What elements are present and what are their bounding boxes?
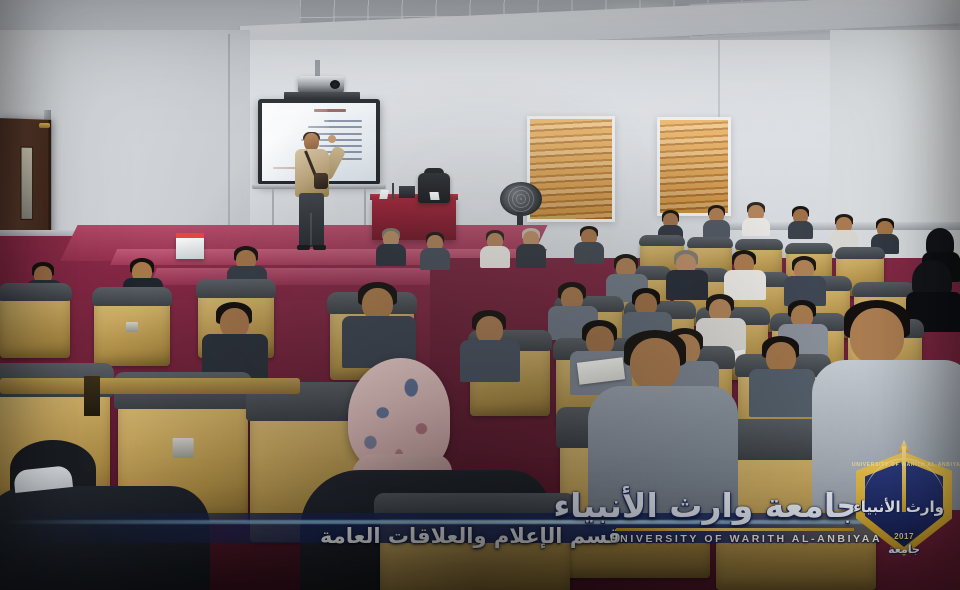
emblem-subtitle-arabic: جامعة [852,543,956,556]
stage-box [176,237,204,259]
attendee [730,250,760,288]
window-right [657,117,731,216]
auditorium-seat [0,288,70,358]
photograph-lecture-hall: قسم الإعلام والعلاقات العامة جامعة وارث … [0,0,960,590]
seat-armrest [0,378,300,394]
blinds-shading [660,120,728,213]
university-wordmark: جامعة وارث الأنبياء UNIVERSITY OF WARITH… [610,486,860,556]
attendee [356,282,402,346]
attendee [760,336,804,398]
seat-divider [84,376,100,416]
wall-mounted-fan [498,182,544,224]
fan-stem [517,212,523,225]
department-name-arabic: قسم الإعلام والعلاقات العامة [320,524,621,548]
university-name-arabic: جامعة وارث الأنبياء [610,486,860,525]
microphone-stand [392,183,394,199]
presenter-leg-split [310,213,312,245]
door-handle [39,123,50,128]
attendee [833,214,857,242]
emblem-year: 2017 [852,532,956,541]
attendee [745,202,769,230]
attendee [484,230,508,260]
wordmark-rule [616,528,854,531]
attendee [214,302,256,362]
attendee [660,210,682,234]
presenter-shoe-right [313,245,326,250]
attendee [706,205,728,231]
attendee [790,256,820,294]
attendee [790,206,812,232]
university-emblem: UNIVERSITY OF WARITH AL-ANBIYAA وارث الأ… [852,444,956,562]
presenter-hand [328,135,336,143]
auditorium-seat [94,292,170,366]
name-card-left [379,190,389,199]
attendee [470,310,510,366]
attendee [380,228,404,258]
stage-box-lid [176,233,204,238]
presenter-at-screen [292,133,340,251]
name-card-right [429,192,439,200]
attendee [520,228,544,260]
emblem-calligraphy-arabic: وارث الأنبياء [864,498,944,516]
fan-grill [505,186,537,212]
ceiling-projector [298,76,344,93]
presenter-shoe-left [297,245,310,250]
attendee [874,218,898,248]
emblem-arc-text: UNIVERSITY OF WARITH AL-ANBIYAA [852,462,956,468]
door-glass-panel [21,147,34,220]
attendee [672,250,702,288]
presenter-shoulder-bag [314,173,328,189]
laptop-on-table [399,186,415,198]
attendee [578,226,602,256]
university-name-english: UNIVERSITY OF WARITH AL-ANBIYAA [610,533,860,545]
attendee [232,246,262,282]
attendee [612,254,642,290]
attendee [424,232,448,262]
projector-lens [330,80,340,89]
attendee [630,288,664,332]
